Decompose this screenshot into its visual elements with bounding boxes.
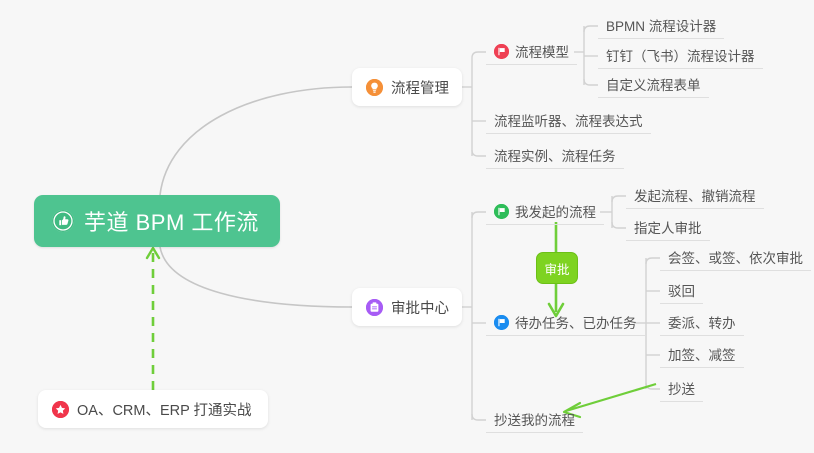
leaf-cc[interactable]: 抄送 xyxy=(660,375,703,402)
leaf-label: 自定义流程表单 xyxy=(606,74,701,94)
node-todo-done-task[interactable]: 待办任务、已办任务 xyxy=(486,309,645,336)
leaf-label: 指定人审批 xyxy=(634,217,702,237)
branch-label: 流程管理 xyxy=(391,77,449,98)
leaf-label: 委派、转办 xyxy=(668,312,736,332)
leaf-label: 加签、减签 xyxy=(668,344,736,364)
star-icon xyxy=(52,401,69,418)
leaf-label: 抄送我的流程 xyxy=(494,409,575,429)
leaf-cc-to-me[interactable]: 抄送我的流程 xyxy=(486,406,583,433)
node-label: 我发起的流程 xyxy=(515,201,596,221)
root-node[interactable]: 芋道 BPM 工作流 xyxy=(34,195,280,247)
leaf-add-remove-sign[interactable]: 加签、减签 xyxy=(660,341,744,368)
leaf-start-cancel-process[interactable]: 发起流程、撤销流程 xyxy=(626,182,764,209)
flag-icon xyxy=(494,44,509,59)
node-process-model[interactable]: 流程模型 xyxy=(486,38,577,65)
leaf-process-listener[interactable]: 流程监听器、流程表达式 xyxy=(486,107,651,134)
thumbs-up-icon xyxy=(52,210,74,232)
approve-badge: 审批 xyxy=(536,252,578,284)
leaf-label: 发起流程、撤销流程 xyxy=(634,185,756,205)
leaf-reject[interactable]: 驳回 xyxy=(660,277,703,304)
leaf-assignee-approval[interactable]: 指定人审批 xyxy=(626,214,710,241)
footnote-label: OA、CRM、ERP 打通实战 xyxy=(77,399,252,420)
flag-icon xyxy=(494,204,509,219)
node-label: 待办任务、已办任务 xyxy=(515,312,637,332)
node-my-started-process[interactable]: 我发起的流程 xyxy=(486,198,604,225)
leaf-label: 驳回 xyxy=(668,280,695,300)
leaf-dingtalk-designer[interactable]: 钉钉（飞书）流程设计器 xyxy=(598,42,763,69)
approve-badge-label: 审批 xyxy=(544,259,569,278)
footnote-node-integration[interactable]: OA、CRM、ERP 打通实战 xyxy=(38,390,268,428)
leaf-label: 抄送 xyxy=(668,378,695,398)
clipboard-icon xyxy=(366,299,383,316)
node-label: 流程模型 xyxy=(515,41,569,61)
flag-icon xyxy=(494,315,509,330)
root-label: 芋道 BPM 工作流 xyxy=(84,205,259,237)
dashed-green-arrow xyxy=(147,248,159,390)
leaf-label: 会签、或签、依次审批 xyxy=(668,247,803,267)
leaf-label: BPMN 流程设计器 xyxy=(606,15,716,35)
leaf-bpmn-designer[interactable]: BPMN 流程设计器 xyxy=(598,12,724,39)
leaf-countersign[interactable]: 会签、或签、依次审批 xyxy=(660,244,811,271)
leaf-label: 钉钉（飞书）流程设计器 xyxy=(606,45,755,65)
leaf-label: 流程实例、流程任务 xyxy=(494,145,616,165)
branch-approval-center[interactable]: 审批中心 xyxy=(352,288,462,326)
leaf-process-instance[interactable]: 流程实例、流程任务 xyxy=(486,142,624,169)
branch-process-management[interactable]: 流程管理 xyxy=(352,68,462,106)
leaf-label: 流程监听器、流程表达式 xyxy=(494,110,643,130)
leaf-delegate-transfer[interactable]: 委派、转办 xyxy=(660,309,744,336)
mindmap-canvas: 芋道 BPM 工作流 流程管理 流程模型 BPMN 流程设计器 钉钉（飞书）流程 xyxy=(0,0,814,453)
leaf-custom-form[interactable]: 自定义流程表单 xyxy=(598,71,709,98)
branch-label: 审批中心 xyxy=(391,297,449,318)
lightbulb-icon xyxy=(366,79,383,96)
